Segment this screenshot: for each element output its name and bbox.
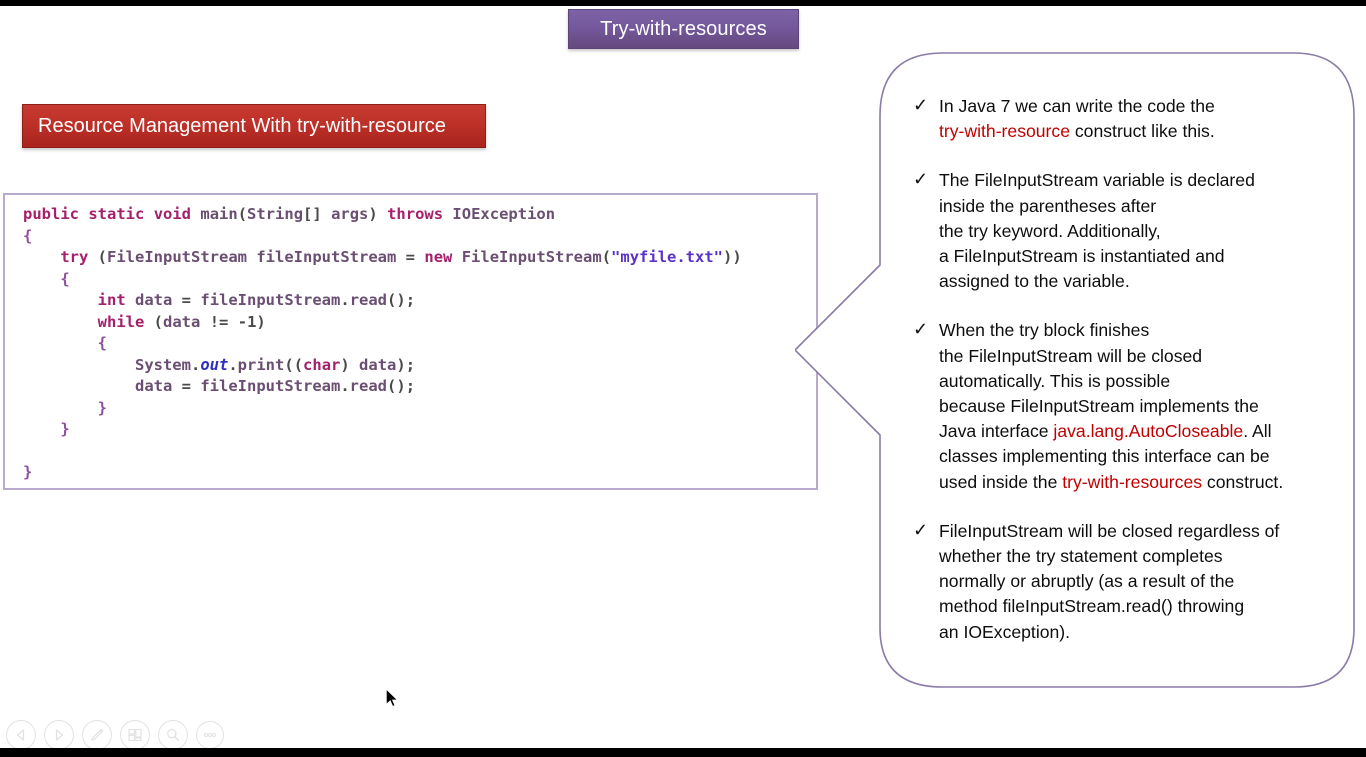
- section-banner-text: Resource Management With try-with-resour…: [38, 115, 446, 138]
- highlighted-term: try-with-resources: [1062, 472, 1202, 492]
- grid-slides-icon: [127, 727, 143, 743]
- next-slide-button[interactable]: [44, 720, 74, 750]
- plain-text: . All: [1243, 421, 1271, 441]
- callout-line: method fileInputStream.read() throwing: [939, 594, 1343, 619]
- slide-title-text: Try-with-resources: [600, 18, 767, 41]
- plain-text: a FileInputStream is instantiated and: [939, 246, 1225, 266]
- callout-line: a FileInputStream is instantiated and: [939, 244, 1343, 269]
- code-line: }: [23, 462, 816, 484]
- check-icon: ✓: [913, 93, 928, 118]
- code-line: {: [23, 333, 816, 355]
- slide-title-chip: Try-with-resources: [568, 9, 799, 49]
- plain-text: method fileInputStream.read() throwing: [939, 596, 1244, 616]
- plain-text: whether the try statement completes: [939, 546, 1223, 566]
- plain-text: The FileInputStream variable is declared: [939, 170, 1255, 190]
- callout-bullet: ✓ The FileInputStream variable is declar…: [913, 168, 1343, 294]
- callout-line: because FileInputStream implements the: [939, 394, 1343, 419]
- code-line: data = fileInputStream.read();: [23, 376, 816, 398]
- top-letterbox-bar: [0, 0, 1366, 6]
- callout-bullet-text: FileInputStream will be closed regardles…: [913, 519, 1343, 645]
- callout-bullet-text: In Java 7 we can write the code thetry-w…: [913, 94, 1343, 144]
- callout-line: classes implementing this interface can …: [939, 444, 1343, 469]
- ellipsis-icon: [202, 731, 218, 739]
- highlighted-term: try-with-resource: [939, 121, 1070, 141]
- callout-line: FileInputStream will be closed regardles…: [939, 519, 1343, 544]
- code-line: public static void main(String[] args) t…: [23, 204, 816, 226]
- triangle-right-icon: [52, 728, 66, 742]
- plain-text: assigned to the variable.: [939, 271, 1130, 291]
- plain-text: FileInputStream will be closed regardles…: [939, 521, 1279, 541]
- check-icon: ✓: [913, 317, 928, 342]
- plain-text: construct like this.: [1070, 121, 1215, 141]
- callout-bullet-text: The FileInputStream variable is declared…: [913, 168, 1343, 294]
- mouse-cursor: [385, 688, 401, 710]
- more-options-button[interactable]: [196, 721, 224, 749]
- callout-line: inside the parentheses after: [939, 194, 1343, 219]
- all-slides-button[interactable]: [120, 720, 150, 750]
- plain-text: normally or abruptly (as a result of the: [939, 571, 1234, 591]
- plain-text: the FileInputStream will be closed: [939, 346, 1202, 366]
- code-line: int data = fileInputStream.read();: [23, 290, 816, 312]
- section-banner: Resource Management With try-with-resour…: [22, 104, 486, 148]
- callout-balloon: ✓In Java 7 we can write the code thetry-…: [795, 50, 1357, 692]
- callout-bullet-text: When the try block finishesthe FileInput…: [913, 318, 1343, 494]
- callout-bullet: ✓FileInputStream will be closed regardle…: [913, 519, 1343, 645]
- code-line: [23, 441, 816, 463]
- plain-text: In Java 7 we can write the code the: [939, 96, 1215, 116]
- plain-text: When the try block finishes: [939, 320, 1149, 340]
- plain-text: automatically. This is possible: [939, 371, 1170, 391]
- previous-slide-button[interactable]: [6, 720, 36, 750]
- plain-text: because FileInputStream implements the: [939, 396, 1259, 416]
- code-panel: public static void main(String[] args) t…: [3, 193, 818, 490]
- callout-line: automatically. This is possible: [939, 369, 1343, 394]
- callout-line: an IOException).: [939, 620, 1343, 645]
- code-line: while (data != -1): [23, 312, 816, 334]
- pen-icon: [89, 727, 105, 743]
- bottom-letterbox-bar: [0, 748, 1366, 757]
- code-line: System.out.print((char) data);: [23, 355, 816, 377]
- highlighted-term: java.lang.AutoCloseable: [1053, 421, 1243, 441]
- plain-text: used inside the: [939, 472, 1062, 492]
- callout-line: When the try block finishes: [939, 318, 1343, 343]
- slide-stage: Try-with-resources Resource Management W…: [0, 0, 1366, 757]
- code-line: }: [23, 398, 816, 420]
- callout-line: the try keyword. Additionally,: [939, 219, 1343, 244]
- callout-bullet: ✓In Java 7 we can write the code thetry-…: [913, 94, 1343, 144]
- zoom-button[interactable]: [158, 720, 188, 750]
- code-line: }: [23, 419, 816, 441]
- plain-text: Java interface: [939, 421, 1053, 441]
- check-icon: ✓: [913, 518, 928, 543]
- code-line: {: [23, 226, 816, 248]
- plain-text: classes implementing this interface can …: [939, 446, 1270, 466]
- callout-line: the FileInputStream will be closed: [939, 344, 1343, 369]
- plain-text: construct.: [1202, 472, 1283, 492]
- callout-content: ✓In Java 7 we can write the code thetry-…: [913, 94, 1343, 645]
- code-listing: public static void main(String[] args) t…: [5, 195, 816, 484]
- callout-line: try-with-resource construct like this.: [939, 119, 1343, 144]
- callout-line: used inside the try-with-resources const…: [939, 470, 1343, 495]
- callout-line: In Java 7 we can write the code the: [939, 94, 1343, 119]
- triangle-left-icon: [14, 728, 28, 742]
- magnifier-icon: [165, 727, 181, 743]
- plain-text: an IOException).: [939, 622, 1070, 642]
- callout-line: The FileInputStream variable is declared: [939, 168, 1343, 193]
- code-line: {: [23, 269, 816, 291]
- pen-tool-button[interactable]: [82, 720, 112, 750]
- check-icon: ✓: [913, 167, 928, 192]
- callout-line: assigned to the variable.: [939, 269, 1343, 294]
- plain-text: inside the parentheses after: [939, 196, 1156, 216]
- plain-text: the try keyword. Additionally,: [939, 221, 1161, 241]
- code-line: try (FileInputStream fileInputStream = n…: [23, 247, 816, 269]
- callout-bullet: ✓When the try block finishesthe FileInpu…: [913, 318, 1343, 494]
- callout-line: whether the try statement completes: [939, 544, 1343, 569]
- callout-line: normally or abruptly (as a result of the: [939, 569, 1343, 594]
- callout-line: Java interface java.lang.AutoCloseable. …: [939, 419, 1343, 444]
